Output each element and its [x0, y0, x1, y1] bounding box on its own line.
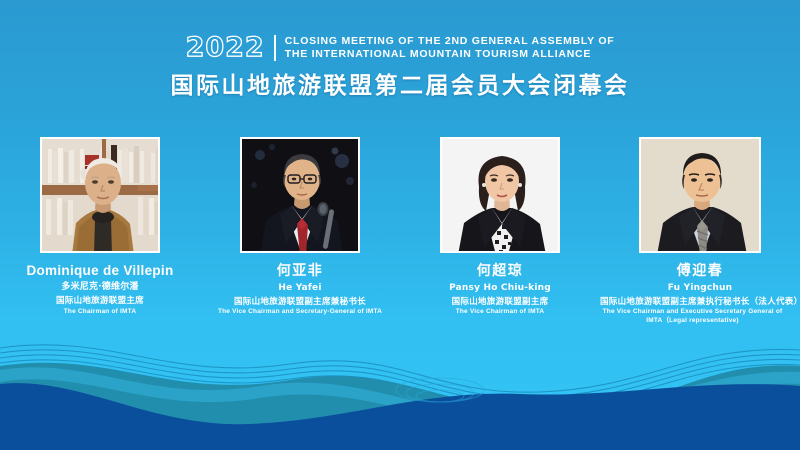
person-card: Dominique de Villepin 多米尼克·德维尔潘 国际山地旅游联盟… [0, 137, 200, 326]
person-title-cn: 国际山地旅游联盟副主席 [449, 297, 551, 308]
person-title-en: The Vice Chairman of IMTA [449, 308, 551, 317]
person-caption: 何超琼 Pansy Ho Chiu-king 国际山地旅游联盟副主席 The V… [449, 263, 551, 317]
person-name-secondary: Pansy Ho Chiu-king [449, 283, 551, 294]
person-title-cn: 国际山地旅游联盟主席 [26, 296, 173, 307]
person-title-cn: 国际山地旅游联盟副主席兼秘书长 [218, 297, 382, 308]
person-name-secondary: 多米尼克·德维尔潘 [26, 282, 173, 293]
person-title-en: The Vice Chairman and Secretary-General … [218, 308, 382, 317]
header-top-row: 2022 CLOSING MEETING OF THE 2ND GENERAL … [0, 34, 800, 61]
photo-he-yafei [242, 139, 360, 253]
people-row: Dominique de Villepin 多米尼克·德维尔潘 国际山地旅游联盟… [0, 137, 800, 326]
portrait-frame [639, 137, 761, 253]
poster-canvas: 2022 CLOSING MEETING OF THE 2ND GENERAL … [0, 0, 800, 450]
person-name-secondary: He Yafei [218, 283, 382, 294]
header-english-block: CLOSING MEETING OF THE 2ND GENERAL ASSEM… [285, 35, 615, 61]
person-caption: 何亚非 He Yafei 国际山地旅游联盟副主席兼秘书长 The Vice Ch… [218, 263, 382, 317]
person-title-cn: 国际山地旅游联盟副主席兼执行秘书长（法人代表） [600, 297, 800, 308]
person-caption: 傅迎春 Fu Yingchun 国际山地旅游联盟副主席兼执行秘书长（法人代表） … [600, 263, 800, 326]
portrait-frame [440, 137, 560, 253]
event-year: 2022 [186, 34, 265, 61]
header-english-line-1: CLOSING MEETING OF THE 2ND GENERAL ASSEM… [285, 35, 615, 48]
header-english-line-2: THE INTERNATIONAL MOUNTAIN TOURISM ALLIA… [285, 48, 615, 61]
person-title-en: The Chairman of IMTA [26, 308, 173, 317]
person-name-primary: 何亚非 [218, 263, 382, 281]
header-chinese-title: 国际山地旅游联盟第二届会员大会闭幕会 [0, 66, 800, 100]
person-card: 何超琼 Pansy Ho Chiu-king 国际山地旅游联盟副主席 The V… [400, 137, 600, 326]
person-caption: Dominique de Villepin 多米尼克·德维尔潘 国际山地旅游联盟… [26, 263, 173, 317]
portrait-frame [40, 137, 160, 253]
portrait-frame [240, 137, 360, 253]
header-divider [274, 35, 276, 61]
person-name-secondary: Fu Yingchun [600, 283, 800, 294]
person-name-primary: 傅迎春 [600, 263, 800, 281]
photo-pansy-ho-chiu-king [442, 139, 560, 253]
person-card: 傅迎春 Fu Yingchun 国际山地旅游联盟副主席兼执行秘书长（法人代表） … [600, 137, 800, 326]
wave-decoration [0, 320, 800, 450]
person-card: 何亚非 He Yafei 国际山地旅游联盟副主席兼秘书长 The Vice Ch… [200, 137, 400, 326]
photo-dominique-de-villepin [42, 139, 160, 253]
person-name-primary: Dominique de Villepin [26, 263, 173, 280]
photo-fu-yingchun [641, 139, 761, 253]
poster-header: 2022 CLOSING MEETING OF THE 2ND GENERAL … [0, 34, 800, 100]
person-name-primary: 何超琼 [449, 263, 551, 281]
